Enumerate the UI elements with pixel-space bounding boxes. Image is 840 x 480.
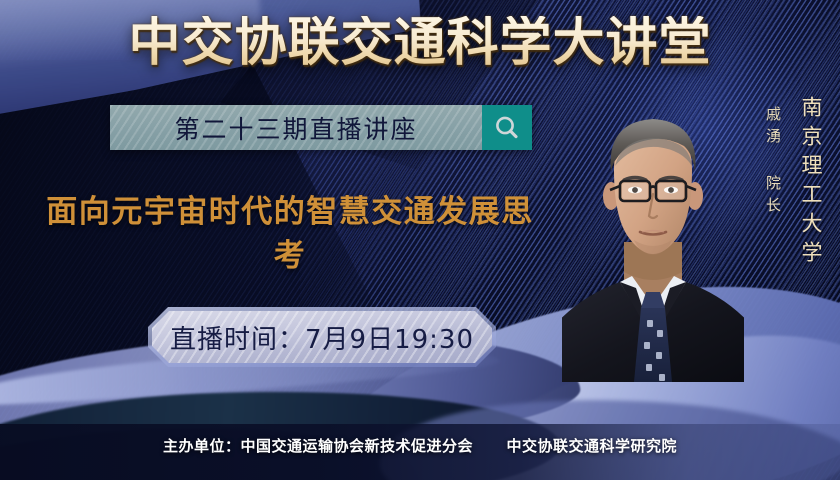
episode-bar[interactable]: 第二十三期直播讲座 [110,105,532,150]
footer-organizer-primary: 主办单位：中国交通运输协会新技术促进分会 [163,437,473,455]
poster-title: 中交协联交通科学大讲堂 [0,16,840,71]
live-lecture-poster: 南京理工大学 戚湧 院长 中交协联交通科学大讲堂 第二十三期直播讲座 面向元宇宙… [0,0,840,480]
time-badge-label: 直播时间：7月9日19:30 [170,319,474,356]
speaker-university: 南京理工大学 [796,96,826,270]
footer-organizer-secondary: 中交协联交通科学研究院 [506,437,677,455]
episode-label: 第二十三期直播讲座 [174,110,417,146]
time-badge: 直播时间：7月9日19:30 [152,311,492,363]
speaker-name-title: 戚湧 院长 [763,106,784,219]
lecture-topic: 面向元宇宙时代的智慧交通发展思考 [34,190,546,278]
episode-label-container: 第二十三期直播讲座 [110,105,482,150]
speaker-portrait [562,92,744,382]
footer-organizers: 主办单位：中国交通运输协会新技术促进分会 中交协联交通科学研究院 [0,435,840,456]
search-icon[interactable] [482,105,532,150]
